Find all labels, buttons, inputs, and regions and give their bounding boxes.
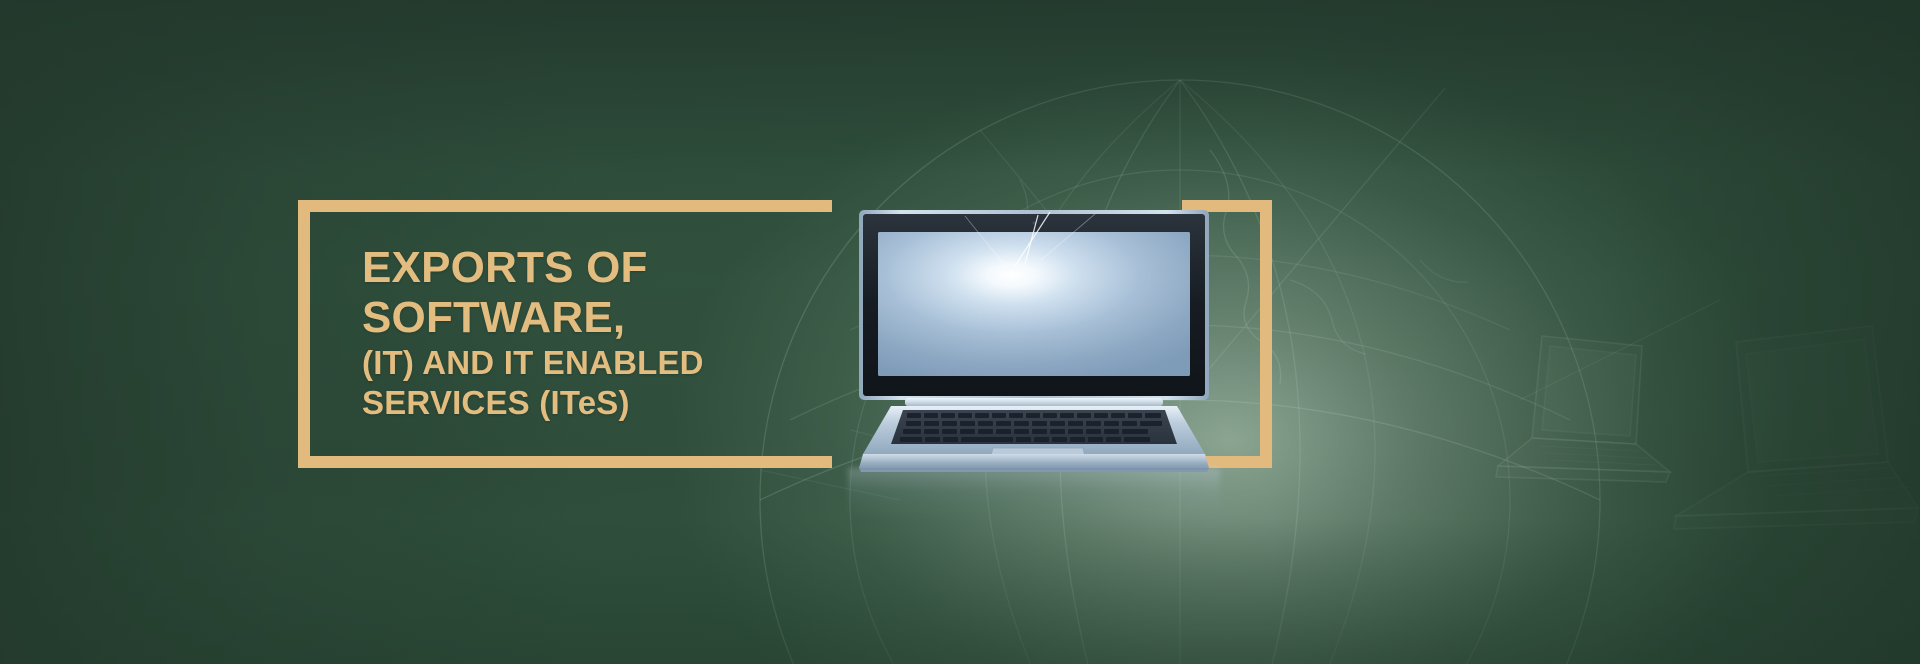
headline-line-1: EXPORTS OF [362, 243, 782, 293]
headline-line-3: (IT) AND IT ENABLED [362, 343, 782, 383]
headline-line-2: SOFTWARE, [362, 293, 782, 343]
page-title: EXPORTS OF SOFTWARE, (IT) AND IT ENABLED… [362, 243, 782, 423]
headline-line-4: SERVICES (ITeS) [362, 383, 782, 423]
glowing-open-laptop [845, 208, 1223, 476]
banner-hero: EXPORTS OF SOFTWARE, (IT) AND IT ENABLED… [0, 0, 1920, 664]
